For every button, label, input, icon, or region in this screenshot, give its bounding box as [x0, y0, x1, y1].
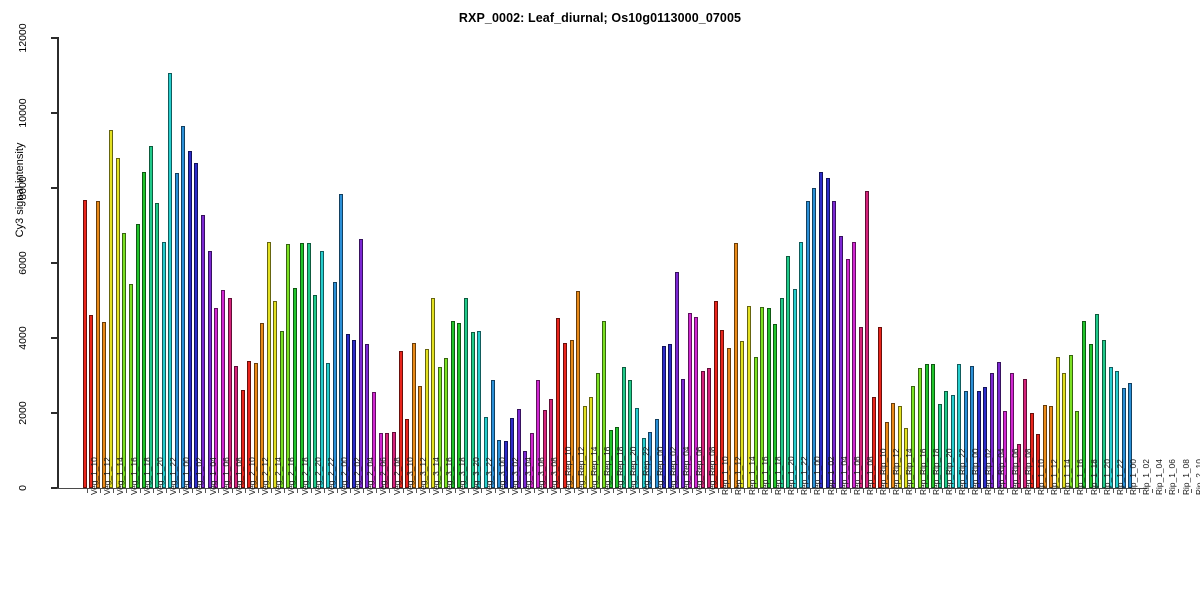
x-tick-label: Veg_3_00: [498, 457, 506, 495]
x-tick-mark: [1126, 489, 1127, 493]
x-tick-mark: [705, 489, 706, 493]
x-tick-label: Rep_1_06: [853, 456, 861, 495]
x-tick-label: Rip_1_06: [1168, 459, 1176, 495]
bar: [181, 126, 185, 488]
x-tick-mark: [1099, 489, 1100, 493]
bar: [122, 233, 126, 488]
x-tick-mark: [271, 489, 272, 493]
x-tick-label: Veg_3_10: [406, 457, 414, 495]
x-tick-label: Veg_1_06: [222, 457, 230, 495]
bar: [359, 239, 363, 488]
bar: [109, 130, 113, 489]
x-tick-label: Rip_1_14: [1063, 459, 1071, 495]
y-tick-label: 10000: [0, 107, 46, 119]
bar: [96, 201, 100, 488]
bar: [832, 201, 836, 488]
x-tick-label: Veg_2_14: [274, 457, 282, 495]
x-tick-label: Rep_Rip_22: [958, 448, 966, 495]
x-tick-mark: [495, 489, 496, 493]
x-tick-mark: [389, 489, 390, 493]
y-tick-label: 12000: [0, 32, 46, 44]
x-tick-label: Rep_1_02: [827, 456, 835, 495]
x-tick-label: Rep_Rip_20: [945, 448, 953, 495]
x-tick-label: Veg_Rep_16: [603, 447, 611, 495]
bar: [286, 244, 290, 488]
x-tick-mark: [744, 489, 745, 493]
bar: [168, 73, 172, 488]
bar: [307, 243, 311, 488]
x-tick-label: Rep_Rip_08: [1024, 448, 1032, 495]
x-tick-mark: [679, 489, 680, 493]
x-tick-mark: [863, 489, 864, 493]
bar: [83, 200, 87, 488]
x-tick-label: Veg_1_12: [103, 457, 111, 495]
bar: [267, 242, 271, 488]
x-tick-mark: [429, 489, 430, 493]
x-tick-label: Rep_1_04: [840, 456, 848, 495]
bar: [155, 203, 159, 488]
x-tick-label: Rip_1_18: [1090, 459, 1098, 495]
x-tick-mark: [166, 489, 167, 493]
x-tick-label: Veg_2_00: [340, 457, 348, 495]
x-tick-mark: [403, 489, 404, 493]
x-tick-mark: [560, 489, 561, 493]
x-tick-label: Veg_3_22: [485, 457, 493, 495]
x-tick-mark: [297, 489, 298, 493]
x-tick-mark: [1191, 489, 1192, 493]
x-tick-mark: [1086, 489, 1087, 493]
y-tick-label: 4000: [0, 332, 46, 344]
x-tick-mark: [363, 489, 364, 493]
bar: [339, 194, 343, 488]
x-tick-label: Rep_1_16: [761, 456, 769, 495]
x-tick-mark: [1152, 489, 1153, 493]
bar: [812, 188, 816, 488]
x-tick-mark: [797, 489, 798, 493]
x-tick-mark: [87, 489, 88, 493]
x-tick-label: Veg_Rep_02: [669, 447, 677, 495]
x-tick-mark: [258, 489, 259, 493]
x-tick-mark: [179, 489, 180, 493]
x-tick-label: Veg_2_12: [261, 457, 269, 495]
bar: [149, 146, 153, 488]
x-tick-label: Veg_Rep_08: [708, 447, 716, 495]
x-tick-label: Veg_1_02: [195, 457, 203, 495]
x-tick-mark: [915, 489, 916, 493]
x-tick-label: Rep_1_10: [721, 456, 729, 495]
x-tick-mark: [455, 489, 456, 493]
x-tick-mark: [153, 489, 154, 493]
x-tick-label: Rep_1_12: [734, 456, 742, 495]
x-tick-mark: [468, 489, 469, 493]
x-tick-label: Veg_Rep_18: [616, 447, 624, 495]
x-tick-mark: [942, 489, 943, 493]
x-tick-label: Rip_1_08: [1182, 459, 1190, 495]
bar: [188, 151, 192, 489]
y-tick-label: 8000: [0, 182, 46, 194]
x-tick-mark: [718, 489, 719, 493]
x-tick-label: Rep_Rip_16: [919, 448, 927, 495]
x-tick-label: Rep_1_08: [866, 456, 874, 495]
x-tick-mark: [836, 489, 837, 493]
x-tick-label: Rip_1_16: [1076, 459, 1084, 495]
x-tick-mark: [666, 489, 667, 493]
x-tick-label: Veg_2_06: [379, 457, 387, 495]
x-tick-mark: [1021, 489, 1022, 493]
x-tick-mark: [587, 489, 588, 493]
bar: [865, 191, 869, 488]
x-tick-mark: [1047, 489, 1048, 493]
x-tick-label: Veg_1_04: [209, 457, 217, 495]
bar: [819, 172, 823, 488]
x-tick-label: Veg_3_08: [550, 457, 558, 495]
x-tick-mark: [1034, 489, 1035, 493]
x-tick-label: Veg_Rep_00: [656, 447, 664, 495]
x-tick-mark: [1178, 489, 1179, 493]
bar: [734, 243, 738, 488]
x-tick-label: Veg_2_20: [314, 457, 322, 495]
x-tick-mark: [442, 489, 443, 493]
x-tick-label: Rep_1_14: [748, 456, 756, 495]
x-tick-label: Veg_Rep_10: [564, 447, 572, 495]
x-tick-label: Veg_3_02: [511, 457, 519, 495]
x-tick-mark: [218, 489, 219, 493]
x-tick-mark: [1073, 489, 1074, 493]
bar: [799, 242, 803, 488]
x-tick-mark: [784, 489, 785, 493]
x-tick-label: Rip_1_22: [1116, 459, 1124, 495]
x-tick-mark: [823, 489, 824, 493]
bar-series: [57, 38, 1147, 488]
x-tick-mark: [955, 489, 956, 493]
x-tick-label: Rip_1_02: [1142, 459, 1150, 495]
x-tick-mark: [126, 489, 127, 493]
chart-title: RXP_0002: Leaf_diurnal; Os10g0113000_070…: [0, 11, 1200, 25]
x-tick-label: Rep_1_20: [787, 456, 795, 495]
x-tick-label: Rep_Rip_14: [905, 448, 913, 495]
x-tick-label: Veg_2_22: [327, 457, 335, 495]
x-tick-mark: [311, 489, 312, 493]
bar: [116, 158, 120, 488]
x-tick-label: Veg_1_00: [182, 457, 190, 495]
x-tick-label: Veg_Rep_12: [577, 447, 585, 495]
bar: [806, 201, 810, 488]
x-tick-mark: [534, 489, 535, 493]
x-tick-mark: [232, 489, 233, 493]
x-tick-label: Rep_Rip_00: [971, 448, 979, 495]
x-tick-label: Veg_3_04: [524, 457, 532, 495]
x-tick-mark: [245, 489, 246, 493]
x-tick-mark: [613, 489, 614, 493]
x-tick-mark: [758, 489, 759, 493]
x-tick-label: Veg_1_08: [235, 457, 243, 495]
x-tick-label: Veg_1_20: [156, 457, 164, 495]
bar: [852, 242, 856, 488]
x-tick-label: Veg_1_22: [169, 457, 177, 495]
x-tick-label: Veg_Rep_06: [695, 447, 703, 495]
x-tick-label: Veg_2_04: [366, 457, 374, 495]
x-tick-mark: [1113, 489, 1114, 493]
x-tick-label: Veg_Rep_14: [590, 447, 598, 495]
x-tick-label: Veg_3_14: [432, 457, 440, 495]
x-tick-label: Rep_1_00: [813, 456, 821, 495]
x-tick-label: Rep_1_22: [800, 456, 808, 495]
x-tick-label: Veg_3_16: [445, 457, 453, 495]
x-tick-label: Veg_3_06: [537, 457, 545, 495]
bar: [300, 243, 304, 488]
x-tick-label: Rep_Rip_02: [984, 448, 992, 495]
x-tick-mark: [968, 489, 969, 493]
x-tick-mark: [574, 489, 575, 493]
x-tick-mark: [929, 489, 930, 493]
x-tick-label: Rip_1_10: [1037, 459, 1045, 495]
y-tick-label: 6000: [0, 257, 46, 269]
x-tick-label: Veg_Rep_04: [682, 447, 690, 495]
x-tick-label: Rep_Rip_12: [892, 448, 900, 495]
x-tick-label: Veg_Rep_22: [642, 447, 650, 495]
x-tick-label: Rep_1_18: [774, 456, 782, 495]
bar: [136, 224, 140, 488]
x-tick-mark: [324, 489, 325, 493]
x-tick-mark: [521, 489, 522, 493]
x-tick-mark: [889, 489, 890, 493]
y-tick-label: 0: [0, 482, 46, 494]
x-tick-label: Veg_2_10: [248, 457, 256, 495]
x-tick-label: Rep_Rip_10: [879, 448, 887, 495]
x-tick-mark: [416, 489, 417, 493]
bar: [208, 251, 212, 488]
chart-root: RXP_0002: Leaf_diurnal; Os10g0113000_070…: [0, 0, 1200, 600]
bar: [826, 178, 830, 488]
x-tick-mark: [626, 489, 627, 493]
bar: [201, 215, 205, 488]
x-tick-label: Veg_Rep_20: [629, 447, 637, 495]
x-tick-label: Veg_3_18: [458, 457, 466, 495]
bar: [320, 251, 324, 488]
bar: [839, 236, 843, 488]
x-tick-label: Rep_Rip_04: [997, 448, 1005, 495]
x-tick-mark: [600, 489, 601, 493]
x-tick-mark: [350, 489, 351, 493]
x-tick-label: Rep_Rip_18: [932, 448, 940, 495]
x-tick-mark: [771, 489, 772, 493]
x-tick-mark: [481, 489, 482, 493]
x-tick-mark: [205, 489, 206, 493]
y-tick-label: 2000: [0, 407, 46, 419]
x-tick-mark: [1060, 489, 1061, 493]
x-tick-mark: [652, 489, 653, 493]
x-tick-mark: [981, 489, 982, 493]
x-tick-label: Rip_1_12: [1050, 459, 1058, 495]
x-tick-label: Rip_1_04: [1155, 459, 1163, 495]
x-tick-mark: [876, 489, 877, 493]
x-tick-label: Veg_1_18: [143, 457, 151, 495]
x-tick-label: Rip_1_00: [1129, 459, 1137, 495]
x-tick-mark: [1007, 489, 1008, 493]
bar: [142, 172, 146, 488]
bar: [175, 173, 179, 488]
bar: [786, 256, 790, 489]
x-tick-label: Veg_1_14: [116, 457, 124, 495]
x-tick-mark: [140, 489, 141, 493]
x-tick-mark: [337, 489, 338, 493]
x-tick-label: Veg_3_12: [419, 457, 427, 495]
x-axis-labels: Veg_1_10Veg_1_12Veg_1_14Veg_1_16Veg_1_18…: [57, 489, 1147, 599]
x-tick-label: Veg_1_10: [90, 457, 98, 495]
x-tick-mark: [100, 489, 101, 493]
bar: [194, 163, 198, 489]
x-tick-label: Veg_2_08: [393, 457, 401, 495]
bar: [162, 242, 166, 488]
x-tick-label: Veg_1_16: [130, 457, 138, 495]
x-tick-label: Veg_2_16: [287, 457, 295, 495]
x-tick-label: Veg_2_02: [353, 457, 361, 495]
x-tick-mark: [1139, 489, 1140, 493]
x-tick-label: Veg_3_20: [472, 457, 480, 495]
x-tick-mark: [692, 489, 693, 493]
x-tick-label: Rip_1_20: [1103, 459, 1111, 495]
x-tick-label: Rip_2_10: [1195, 459, 1200, 495]
x-tick-label: Rep_Rip_06: [1011, 448, 1019, 495]
x-tick-label: Veg_2_18: [301, 457, 309, 495]
bar: [846, 259, 850, 489]
x-tick-mark: [850, 489, 851, 493]
x-tick-mark: [508, 489, 509, 493]
